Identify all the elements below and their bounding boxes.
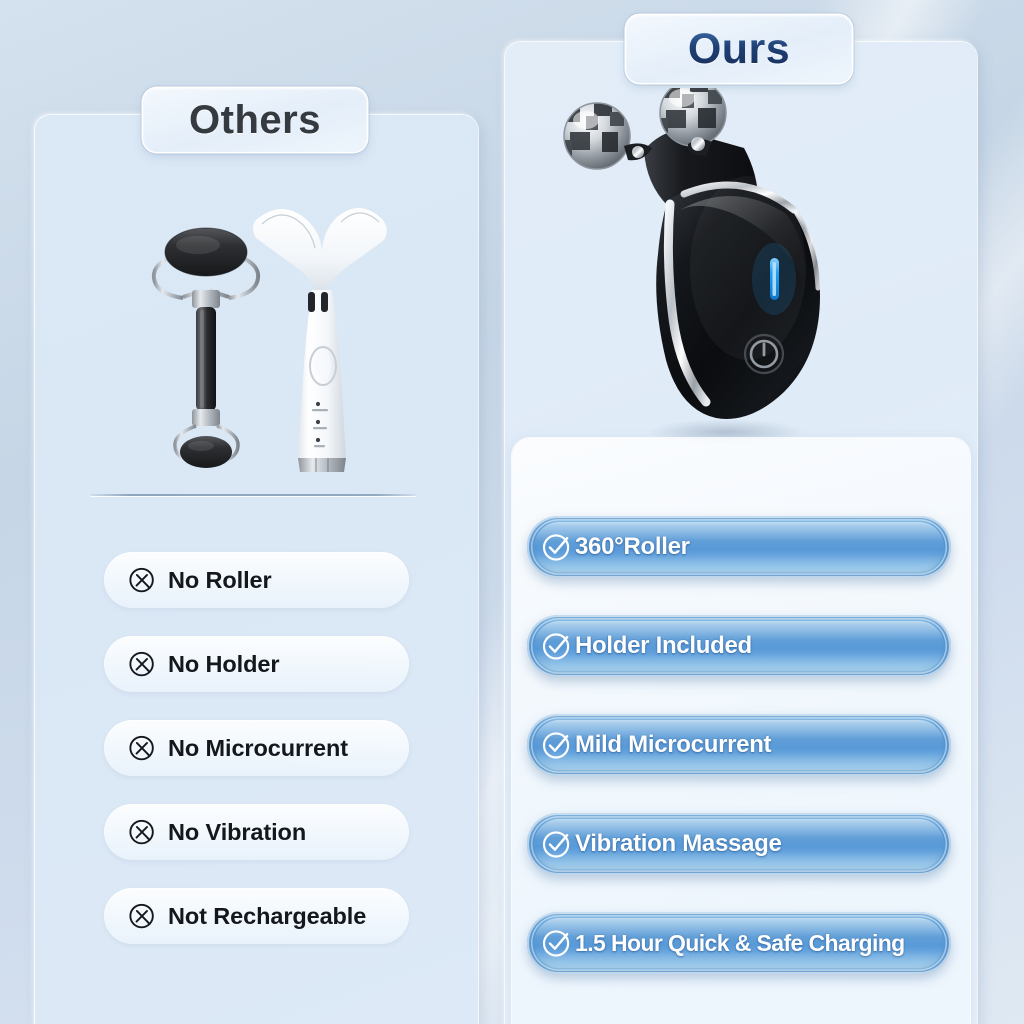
list-item-label: No Vibration	[168, 819, 306, 846]
ours-product-image	[548, 88, 878, 448]
list-item-label: Vibration Massage	[575, 830, 782, 858]
roller-ball-left	[560, 102, 630, 169]
list-item: Not Rechargeable	[104, 888, 409, 944]
others-feature-list: No Roller No Holder	[104, 552, 409, 944]
list-item: Holder Included	[527, 615, 951, 677]
list-item: Mild Microcurrent	[527, 714, 951, 776]
list-item-label: 360°Roller	[575, 533, 690, 561]
circle-check-icon	[541, 630, 573, 662]
comparison-infographic: Others	[0, 0, 1024, 1024]
list-item: Vibration Massage	[527, 813, 951, 875]
ours-title-text: Ours	[688, 28, 790, 71]
ours-title-chip: Ours	[626, 15, 852, 83]
circle-check-icon	[541, 531, 573, 563]
list-item: 1.5 Hour Quick & Safe Charging	[527, 912, 951, 974]
others-products-illustration	[140, 190, 390, 475]
list-item-label: No Microcurrent	[168, 735, 348, 762]
list-item-label: Mild Microcurrent	[575, 731, 771, 759]
others-product-images	[140, 190, 390, 475]
list-item-label: Not Rechargeable	[168, 903, 366, 930]
list-item: No Holder	[104, 636, 409, 692]
list-item-label: No Roller	[168, 567, 272, 594]
list-item-label: Holder Included	[575, 632, 752, 660]
circle-x-icon	[128, 818, 157, 847]
others-title-chip: Others	[143, 88, 367, 152]
circle-check-icon	[541, 927, 573, 959]
jade-roller-illustration	[154, 228, 258, 468]
power-icon	[745, 335, 783, 373]
list-item-label: 1.5 Hour Quick & Safe Charging	[575, 930, 905, 957]
circle-x-icon	[128, 734, 157, 763]
ours-feature-list: 360°Roller Holder Included Mild Microcur…	[527, 516, 951, 974]
list-item: No Vibration	[104, 804, 409, 860]
ours-device-illustration	[548, 88, 878, 448]
list-item: No Microcurrent	[104, 720, 409, 776]
list-item: No Roller	[104, 552, 409, 608]
neck-massager-illustration	[253, 208, 387, 472]
circle-x-icon	[128, 902, 157, 931]
others-title-text: Others	[189, 100, 321, 140]
others-divider	[90, 494, 416, 496]
circle-check-icon	[541, 729, 573, 761]
circle-x-icon	[128, 650, 157, 679]
list-item-label: No Holder	[168, 651, 279, 678]
circle-check-icon	[541, 828, 573, 860]
list-item: 360°Roller	[527, 516, 951, 578]
circle-x-icon	[128, 566, 157, 595]
